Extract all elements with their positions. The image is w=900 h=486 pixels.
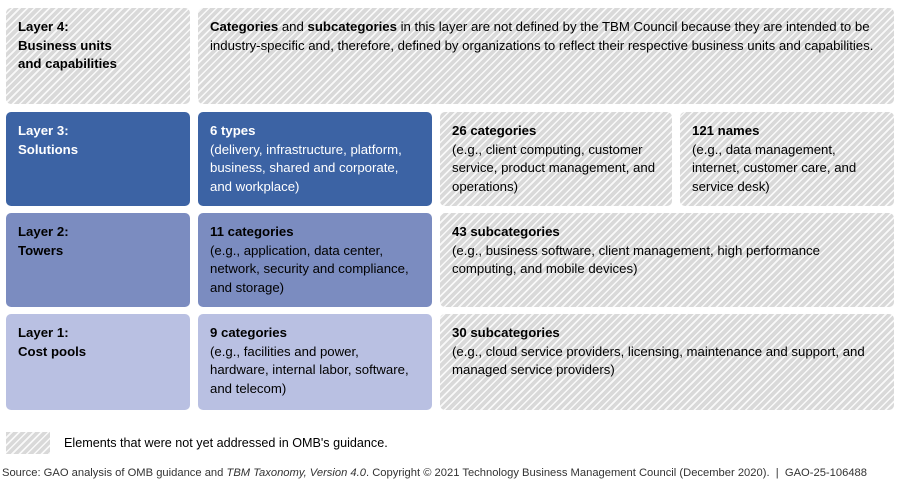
layer1-label-cell: Layer 1: Cost pools — [6, 314, 190, 410]
layer3-label-cell: Layer 3: Solutions — [6, 112, 190, 206]
layer2-label-line2: Towers — [18, 242, 178, 261]
layer3-names-heading: 121 names — [692, 122, 882, 141]
layer4-desc-and: and — [278, 19, 307, 34]
layer1-label-line2: Cost pools — [18, 343, 178, 362]
layer4-desc-bold-categories: Categories — [210, 19, 278, 34]
layer4-description-cell: Categories and subcategories in this lay… — [198, 8, 894, 104]
layer1-label-line1: Layer 1: — [18, 324, 178, 343]
layer2-categories-heading: 11 categories — [210, 223, 420, 242]
layer2-categories-cell: 11 categories (e.g., application, data c… — [198, 213, 432, 307]
source-suffix: . Copyright © 2021 Technology Business M… — [366, 467, 770, 479]
layer3-categories-cell: 26 categories (e.g., client computing, c… — [440, 112, 672, 206]
layer3-names-body: (e.g., data management, internet, custom… — [692, 141, 882, 197]
layer4-label-line2: Business units — [18, 37, 178, 56]
layer2-label-line1: Layer 2: — [18, 223, 178, 242]
layer2-subcategories-cell: 43 subcategories (e.g., business softwar… — [440, 213, 894, 307]
layer1-subcategories-heading: 30 subcategories — [452, 324, 882, 343]
layer2-label-cell: Layer 2: Towers — [6, 213, 190, 307]
layer1-categories-heading: 9 categories — [210, 324, 420, 343]
legend: Elements that were not yet addressed in … — [6, 432, 388, 454]
layer3-label-line1: Layer 3: — [18, 122, 178, 141]
source-prefix: Source: GAO analysis of OMB guidance and — [2, 467, 227, 479]
source-italic-title: TBM Taxonomy, Version 4.0 — [227, 467, 367, 479]
layer3-types-body: (delivery, infrastructure, platform, bus… — [210, 141, 420, 197]
layer2-categories-body: (e.g., application, data center, network… — [210, 242, 420, 298]
layer1-categories-body: (e.g., facilities and power, hardware, i… — [210, 343, 420, 399]
report-id: GAO-25-106488 — [785, 467, 867, 479]
layer2-subcategories-heading: 43 subcategories — [452, 223, 882, 242]
layer3-categories-heading: 26 categories — [452, 122, 660, 141]
legend-hatch-swatch — [6, 432, 50, 454]
layer4-label-line3: and capabilities — [18, 55, 178, 74]
layer4-label-line1: Layer 4: — [18, 18, 178, 37]
layer1-subcategories-cell: 30 subcategories (e.g., cloud service pr… — [440, 314, 894, 410]
tbm-taxonomy-diagram: Layer 4: Business units and capabilities… — [0, 0, 900, 486]
layer3-names-cell: 121 names (e.g., data management, intern… — [680, 112, 894, 206]
layer3-categories-body: (e.g., client computing, customer servic… — [452, 141, 660, 197]
layer1-subcategories-body: (e.g., cloud service providers, licensin… — [452, 343, 882, 380]
legend-label: Elements that were not yet addressed in … — [64, 436, 388, 450]
layer4-description: Categories and subcategories in this lay… — [210, 18, 882, 55]
layer1-categories-cell: 9 categories (e.g., facilities and power… — [198, 314, 432, 410]
source-note: Source: GAO analysis of OMB guidance and… — [2, 466, 867, 480]
layer3-types-cell: 6 types (delivery, infrastructure, platf… — [198, 112, 432, 206]
layer2-subcategories-body: (e.g., business software, client managem… — [452, 242, 882, 279]
layer4-desc-bold-subcategories: subcategories — [308, 19, 397, 34]
source-separator: | — [770, 467, 785, 479]
layer3-types-heading: 6 types — [210, 122, 420, 141]
layer4-label-cell: Layer 4: Business units and capabilities — [6, 8, 190, 104]
layer3-label-line2: Solutions — [18, 141, 178, 160]
